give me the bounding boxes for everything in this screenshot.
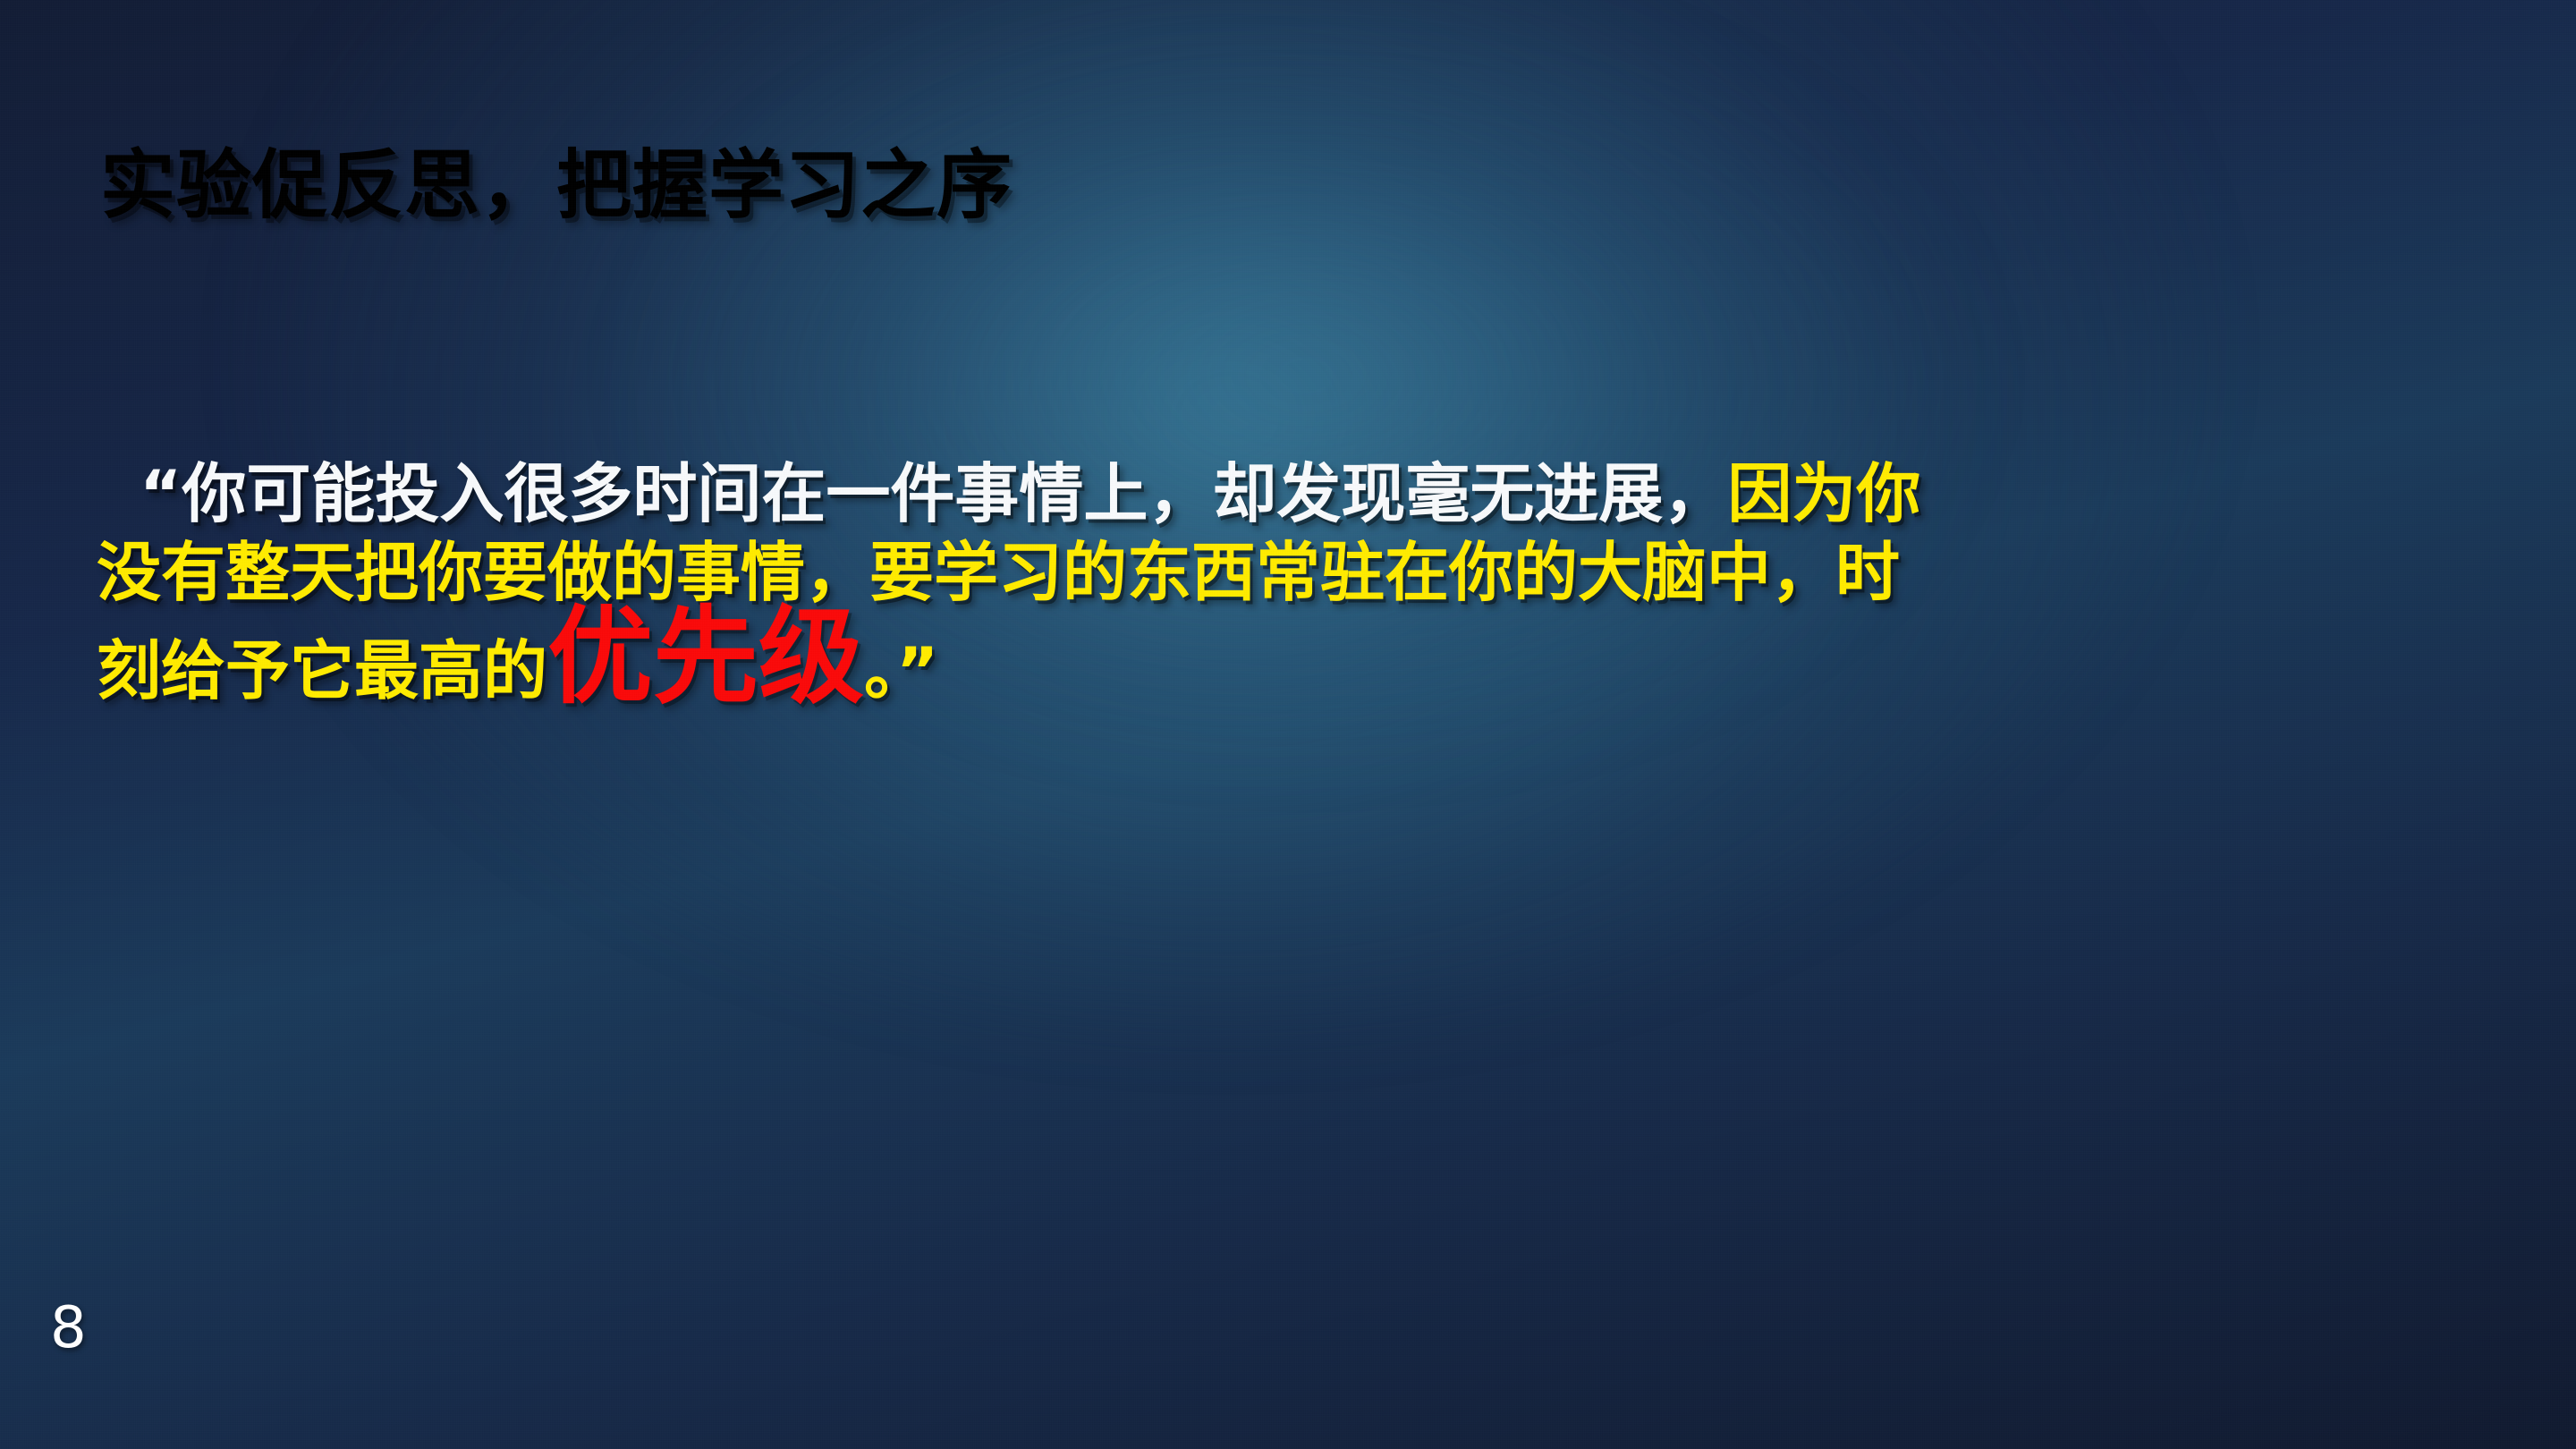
quote-segment-yellow: 没有整天把你要做的事情，要学习的东西常驻在你的大脑中，时 [97, 535, 1900, 610]
quote-emphasis-priority: 优先级 [547, 595, 864, 718]
page-title: 实验促反思，把握学习之序 [100, 143, 1013, 227]
quote-segment-closing: 。” [864, 633, 938, 708]
quote-line-2: 没有整天把你要做的事情，要学习的东西常驻在你的大脑中，时 [97, 534, 2458, 611]
quote-line-3: 刻给予它最高的优先级。” [97, 612, 2458, 718]
quote-segment-yellow: 因为你 [1727, 456, 1920, 531]
presentation-slide: 实验促反思，把握学习之序 “你可能投入很多时间在一件事情上，却发现毫无进展，因为… [0, 0, 2576, 1449]
quote-segment-yellow: 刻给予它最高的 [97, 633, 547, 708]
quote-segment-white: “你可能投入很多时间在一件事情上，却发现毫无进展， [140, 456, 1727, 531]
quote-block: “你可能投入很多时间在一件事情上，却发现毫无进展，因为你 没有整天把你要做的事情… [97, 454, 2458, 718]
quote-line-1: “你可能投入很多时间在一件事情上，却发现毫无进展，因为你 [97, 454, 2458, 534]
page-number: 8 [50, 1295, 87, 1361]
